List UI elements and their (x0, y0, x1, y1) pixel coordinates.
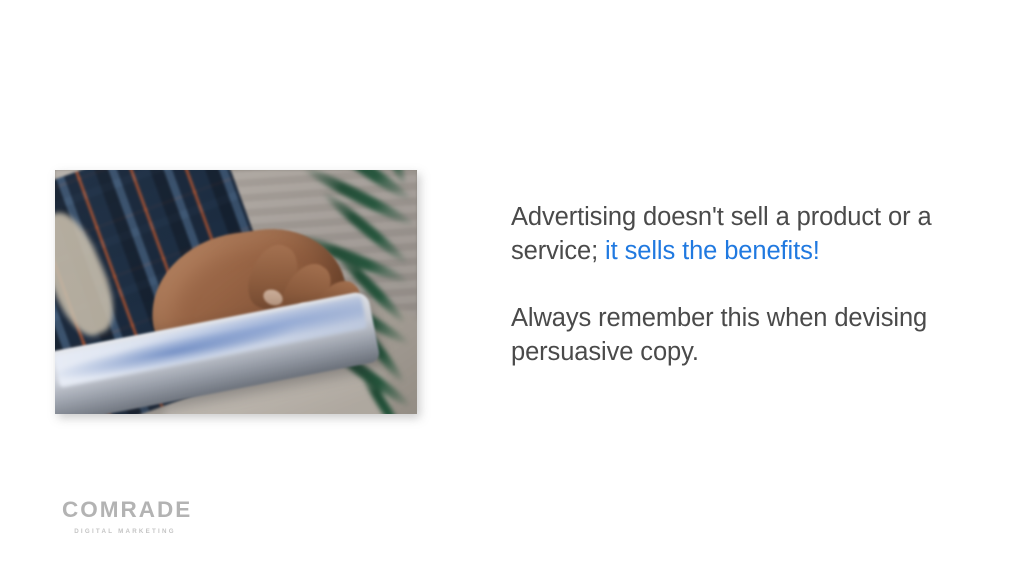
slide-canvas: Advertising doesn't sell a product or a … (0, 0, 1024, 576)
quote-trail-text: ! (813, 237, 820, 265)
logo-tagline: DIGITAL MARKETING (62, 528, 188, 535)
quote-paragraph-1: Advertising doesn't sell a product or a … (511, 200, 981, 268)
quote-copy: Advertising doesn't sell a product or a … (511, 200, 981, 369)
comrade-logo: COMRADE DIGITAL MARKETING (62, 499, 188, 535)
photo-composition (55, 170, 417, 414)
quote-highlight-text: it sells the benefits (605, 237, 813, 265)
hero-photo (55, 170, 417, 414)
logo-wordmark: COMRADE (62, 499, 188, 522)
quote-paragraph-2: Always remember this when devising persu… (511, 301, 981, 369)
